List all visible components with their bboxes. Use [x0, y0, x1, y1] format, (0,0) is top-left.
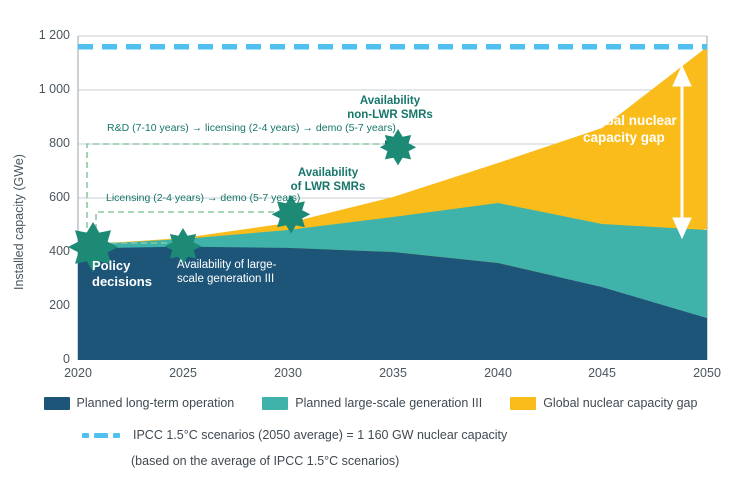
star-availability-non-lwr-smrs — [380, 129, 416, 165]
legend-item-planned-large-scale-generation-iii[interactable]: Planned large-scale generation III — [262, 396, 482, 410]
annotation-non-lwr-pathway: R&D (7-10 years) → licensing (2-4 years)… — [107, 122, 396, 134]
legend-swatch-teal — [262, 397, 288, 410]
legend-label-planned-large-scale-generation-iii: Planned large-scale generation III — [295, 396, 482, 410]
gap-line1: Global nuclear — [583, 113, 677, 130]
x-tick-2045: 2045 — [572, 366, 632, 380]
legend-row-areas: Planned long-term operation Planned larg… — [0, 396, 741, 410]
legend-label-ipcc-sublabel: (based on the average of IPCC 1.5°C scen… — [131, 454, 399, 468]
legend-dashed-line-icon — [82, 433, 124, 438]
avail-lwr-line1: Availability — [291, 166, 366, 180]
y-tick-200: 200 — [14, 298, 70, 312]
y-tick-800: 800 — [14, 136, 70, 150]
legend-reference: IPCC 1.5°C scenarios (2050 average) = 1 … — [0, 428, 741, 442]
legend-item-planned-long-term-operation[interactable]: Planned long-term operation — [44, 396, 235, 410]
legend-swatch-yellow — [510, 397, 536, 410]
y-tick-0: 0 — [14, 352, 70, 366]
legend-reference-sublabel: (based on the average of IPCC 1.5°C scen… — [0, 452, 741, 470]
legend-label-ipcc-reference: IPCC 1.5°C scenarios (2050 average) = 1 … — [133, 428, 507, 442]
gap-line2: capacity gap — [583, 130, 677, 147]
avail-gen3-line2: scale generation III — [177, 272, 277, 286]
annotation-policy-decisions: Policy decisions — [92, 258, 152, 291]
legend-row-reference[interactable]: IPCC 1.5°C scenarios (2050 average) = 1 … — [0, 428, 741, 442]
annotation-availability-large-scale-gen-iii: Availability of large- scale generation … — [177, 258, 277, 287]
y-tick-1000: 1 000 — [14, 82, 70, 96]
legend-label-global-nuclear-capacity-gap: Global nuclear capacity gap — [543, 396, 697, 410]
plot-canvas — [0, 0, 741, 486]
x-tick-2050: 2050 — [677, 366, 737, 380]
x-tick-2035: 2035 — [363, 366, 423, 380]
x-tick-2040: 2040 — [468, 366, 528, 380]
annotation-availability-non-lwr-smrs: Availability non-LWR SMRs — [347, 94, 433, 122]
avail-gen3-line1: Availability of large- — [177, 258, 277, 272]
y-tick-400: 400 — [14, 244, 70, 258]
annotation-global-nuclear-capacity-gap: Global nuclear capacity gap — [583, 113, 677, 146]
avail-non-lwr-line1: Availability — [347, 94, 433, 108]
y-tick-600: 600 — [14, 190, 70, 204]
legend-swatch-dark-blue — [44, 397, 70, 410]
y-tick-1200: 1 200 — [14, 28, 70, 42]
policy-line2: decisions — [92, 274, 152, 290]
legend: Planned long-term operation Planned larg… — [0, 396, 741, 410]
chart-figure: Installed capacity (GWe) 1 200 1 000 800… — [0, 0, 741, 486]
x-tick-2020: 2020 — [48, 366, 108, 380]
avail-lwr-line2: of LWR SMRs — [291, 180, 366, 194]
x-tick-2030: 2030 — [258, 366, 318, 380]
policy-line1: Policy — [92, 258, 152, 274]
legend-label-planned-long-term-operation: Planned long-term operation — [77, 396, 235, 410]
avail-non-lwr-line2: non-LWR SMRs — [347, 108, 433, 122]
annotation-availability-lwr-smrs: Availability of LWR SMRs — [291, 166, 366, 194]
chart-svg — [0, 0, 741, 486]
x-tick-2025: 2025 — [153, 366, 213, 380]
annotation-lwr-pathway: Licensing (2-4 years) → demo (5-7 years) — [106, 192, 300, 204]
legend-item-global-nuclear-capacity-gap[interactable]: Global nuclear capacity gap — [510, 396, 697, 410]
